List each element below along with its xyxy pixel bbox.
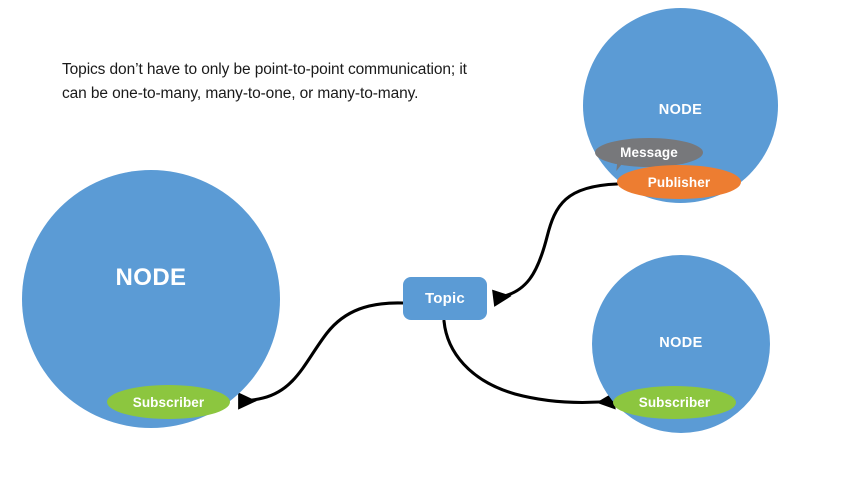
node-left-label: NODE bbox=[22, 264, 280, 292]
caption-text: Topics don’t have to only be point-to-po… bbox=[62, 58, 482, 106]
node-top-right-label: NODE bbox=[583, 102, 778, 118]
diagram-canvas: Topics don’t have to only be point-to-po… bbox=[0, 0, 854, 480]
subscriber-badge-left[interactable]: Subscriber bbox=[107, 385, 230, 419]
subscriber-badge-bottom-right[interactable]: Subscriber bbox=[613, 386, 736, 419]
arrow-topic-to-bottomright-subscriber bbox=[444, 321, 613, 403]
topic-box[interactable]: Topic bbox=[403, 277, 487, 320]
message-callout-badge[interactable]: Message bbox=[595, 138, 703, 167]
arrow-publisher-to-topic bbox=[495, 184, 617, 298]
node-bottom-right-label: NODE bbox=[592, 335, 770, 351]
message-callout-tail bbox=[616, 158, 630, 171]
topic-label: Topic bbox=[425, 290, 465, 307]
subscriber-badge-left-label: Subscriber bbox=[133, 395, 205, 410]
subscriber-badge-bottom-right-label: Subscriber bbox=[639, 395, 711, 410]
publisher-badge[interactable]: Publisher bbox=[617, 165, 741, 199]
publisher-badge-label: Publisher bbox=[648, 175, 710, 190]
